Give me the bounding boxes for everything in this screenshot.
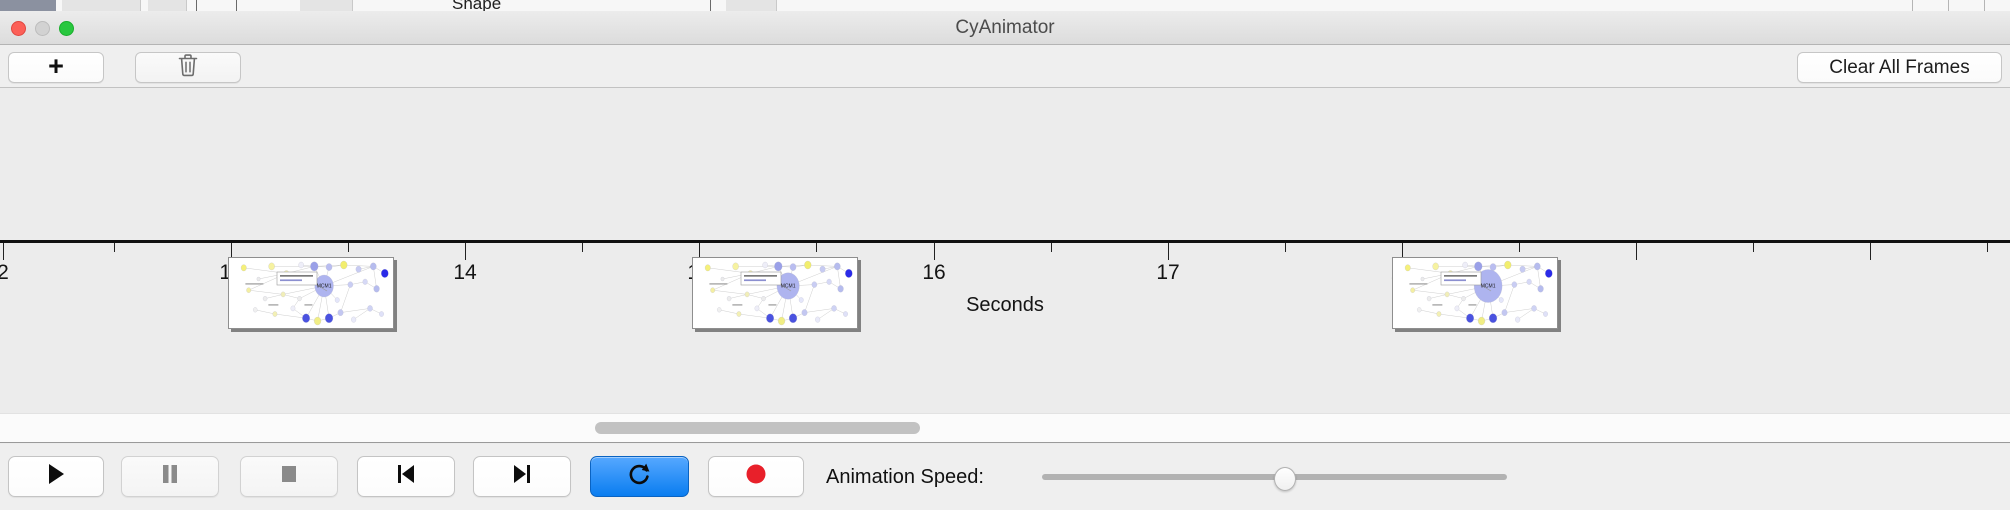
background-window-tick-c: [710, 0, 711, 11]
timeline-tick-minor-3: [816, 243, 817, 252]
loop-icon: [628, 461, 652, 492]
skip-to-start-button[interactable]: [357, 456, 455, 497]
timeline-tick-minor-0: [114, 243, 115, 252]
timeline-tick-minor-1: [348, 243, 349, 252]
timeline-scrollbar[interactable]: [0, 413, 2010, 443]
animation-speed-slider-thumb[interactable]: [1274, 467, 1296, 491]
cyanimator-window: Shape CyAnimator +: [0, 0, 2010, 510]
svg-text:MCM1: MCM1: [317, 283, 332, 289]
timeline-tick-minor-6: [1519, 243, 1520, 252]
background-window-edge-b: [1948, 0, 1950, 11]
stop-icon: [279, 462, 299, 491]
transport-bar: Animation Speed:: [0, 444, 2010, 510]
svg-text:MCM1: MCM1: [781, 283, 796, 289]
frame-thumbnail-3[interactable]: MCM1: [1392, 257, 1558, 329]
background-window-chip-d: [726, 0, 777, 11]
timeline-tick-major-7: [1636, 243, 1637, 260]
timeline-tick-minor-8: [1987, 243, 1988, 252]
play-icon: [46, 462, 66, 491]
background-window-tick-b: [236, 0, 237, 11]
pause-icon: [160, 462, 180, 491]
record-button[interactable]: [708, 456, 804, 497]
skip-forward-icon: [511, 462, 533, 491]
frame-thumbnail-1[interactable]: MCM1: [228, 257, 394, 329]
background-window-tick-a: [196, 0, 197, 11]
timeline-tick-major-4: [934, 243, 935, 260]
animation-speed-label: Animation Speed:: [826, 466, 984, 489]
loop-button[interactable]: [590, 456, 689, 497]
window-title: CyAnimator: [0, 11, 2010, 45]
background-window-chip-b: [148, 0, 187, 11]
timeline-tick-label-2: 2: [0, 261, 9, 285]
plus-icon: +: [48, 53, 64, 80]
skip-to-end-button[interactable]: [473, 456, 571, 497]
timeline-tick-major-2: [465, 243, 466, 260]
background-window-chip-c: [300, 0, 353, 11]
timeline-scrollbar-thumb[interactable]: [595, 422, 920, 434]
timeline-tick-label-17: 17: [1156, 261, 1179, 285]
background-window-titlebar-chip: [0, 0, 56, 11]
timeline-tick-minor-4: [1051, 243, 1052, 252]
frame-thumbnail-2[interactable]: MCM1: [692, 257, 858, 329]
timeline-panel[interactable]: 2131415161718 Seconds MCM1MCM1MCM1: [0, 88, 2010, 413]
svg-text:MCM1: MCM1: [1481, 283, 1496, 289]
stop-button[interactable]: [240, 456, 338, 497]
timeline-axis-line: [0, 240, 2010, 243]
title-bar: CyAnimator: [0, 11, 2010, 45]
add-frame-button[interactable]: +: [8, 52, 104, 83]
clear-all-frames-button[interactable]: Clear All Frames: [1797, 52, 2002, 83]
record-icon: [744, 462, 768, 491]
pause-button[interactable]: [121, 456, 219, 497]
timeline-tick-label-14: 14: [453, 261, 476, 285]
trash-icon: [176, 52, 200, 83]
timeline-tick-major-0: [3, 243, 4, 260]
timeline-tick-major-8: [1870, 243, 1871, 260]
timeline-tick-label-16: 16: [922, 261, 945, 285]
background-window-edge-a: [1912, 0, 1914, 11]
clear-all-frames-label: Clear All Frames: [1829, 57, 1969, 79]
timeline-tick-minor-2: [582, 243, 583, 252]
play-button[interactable]: [8, 456, 104, 497]
toolbar: + Clear All Frames: [0, 45, 2010, 88]
timeline-tick-minor-5: [1285, 243, 1286, 252]
background-window-edge-c: [1984, 0, 1986, 11]
delete-frame-button[interactable]: [135, 52, 241, 83]
timeline-tick-major-5: [1168, 243, 1169, 260]
timeline-tick-minor-7: [1753, 243, 1754, 252]
background-window-chip-a: [62, 0, 141, 11]
skip-back-icon: [395, 462, 417, 491]
